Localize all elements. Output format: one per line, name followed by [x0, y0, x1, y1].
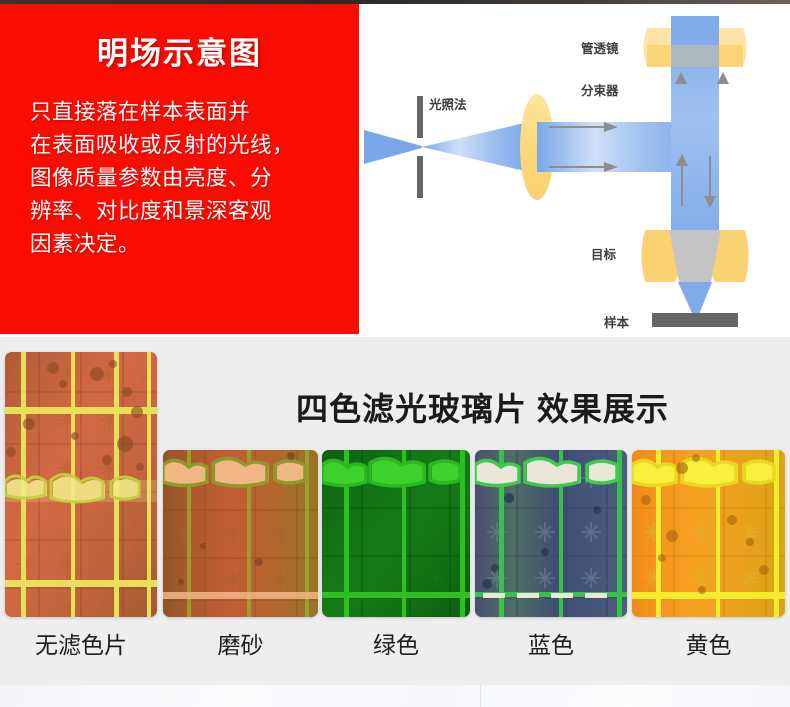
caption-frosted: 磨砂 [163, 626, 318, 660]
pcb-pattern [163, 450, 318, 617]
pcb-pattern [5, 352, 157, 617]
label-objective: 目标 [591, 244, 616, 263]
brightfield-line-4: 辨率、对比度和景深客观 [30, 195, 340, 228]
bottom-pale-strip [0, 685, 790, 707]
brightfield-panel: 明场示意图 只直接落在样本表面并 在表面吸收或反射的光线， 图像质量参数由亮度、… [0, 4, 359, 334]
caption-none: 无滤色片 [5, 626, 157, 660]
page-root: 明场示意图 只直接落在样本表面并 在表面吸收或反射的光线， 图像质量参数由亮度、… [0, 0, 790, 707]
caption-blue: 蓝色 [475, 626, 627, 660]
pcb-pattern [475, 450, 627, 617]
sample-tile-none[interactable] [5, 352, 157, 617]
label-beam-splitter: 分束器 [581, 80, 619, 99]
caption-green: 绿色 [322, 626, 470, 660]
optical-path-diagram: 管透镜 分束器 光照法 目标 样本 [359, 4, 790, 334]
sample-tile-yellow[interactable] [632, 450, 785, 617]
aperture-stop-upper [417, 96, 423, 138]
optical-diagram-svg [359, 4, 790, 334]
aperture-stop-lower [417, 156, 423, 198]
brightfield-line-5: 因素决定。 [30, 228, 340, 261]
brightfield-body: 只直接落在样本表面并 在表面吸收或反射的光线， 图像质量参数由亮度、分 辨率、对… [30, 96, 340, 261]
sample-tile-blue[interactable] [475, 450, 627, 617]
sample-tile-frosted[interactable] [163, 450, 318, 617]
label-sample: 样本 [604, 312, 629, 331]
brightfield-line-2: 在表面吸收或反射的光线， [30, 129, 340, 162]
pcb-pattern [322, 450, 470, 617]
label-illumination: 光照法 [429, 94, 467, 113]
pcb-pattern [632, 450, 785, 617]
caption-yellow: 黄色 [632, 626, 785, 660]
sample-slide [652, 313, 738, 327]
tube-lens-overlay [671, 16, 719, 68]
brightfield-line-1: 只直接落在样本表面并 [30, 96, 340, 129]
sample-tile-green[interactable] [322, 450, 470, 617]
label-tube-lens: 管透镜 [581, 38, 619, 57]
showcase-title: 四色滤光玻璃片 效果展示 [296, 384, 669, 430]
source-beam-left [364, 130, 422, 164]
brightfield-line-3: 图像质量参数由亮度、分 [30, 162, 340, 195]
source-beam-expanding [422, 122, 529, 172]
brightfield-title: 明场示意图 [0, 28, 359, 73]
